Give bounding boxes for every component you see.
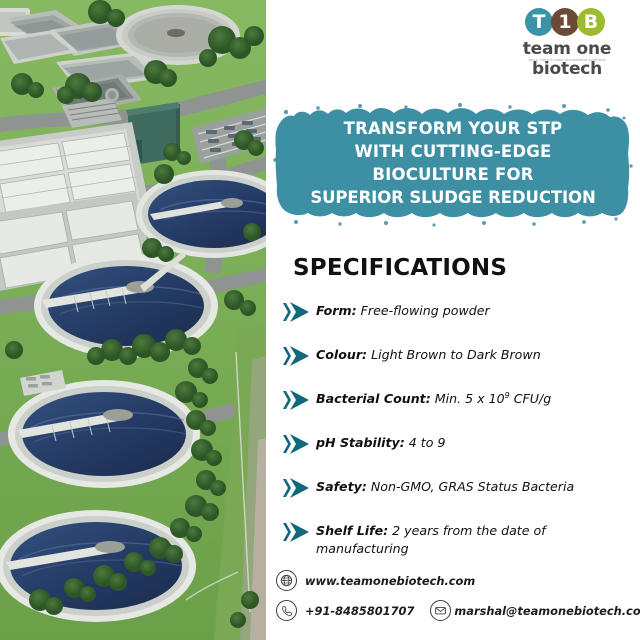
phone-icon: [276, 600, 297, 621]
banner-line-3: BIOCULTURE FOR: [372, 164, 533, 185]
spec-label-bacterial-count: Bacterial Count:: [316, 391, 431, 406]
chevron-arrow-icon: [282, 345, 312, 367]
spec-text-shelf-life: Shelf Life: 2 years from the date of man…: [312, 520, 634, 558]
spec-item-ph-stability: pH Stability: 4 to 9: [282, 432, 634, 456]
spec-item-bacterial-count: Bacterial Count: Min. 5 x 109 CFU/g: [282, 388, 634, 412]
specifications-heading: SPECIFICATIONS: [293, 255, 507, 281]
logo-letter-1: 1: [551, 8, 579, 36]
spec-value-colour: Light Brown to Dark Brown: [371, 347, 541, 362]
contact-row-phone-email: +91-8485801707 marshal@teamonebiotech.co…: [276, 600, 636, 621]
brand-logo: T 1 B team one biotech terra, flora & aq…: [497, 8, 637, 76]
spec-label-colour: Colour:: [316, 347, 367, 362]
poster-root: T 1 B team one biotech terra, flora & aq…: [0, 0, 640, 640]
logo-circles: T 1 B: [525, 8, 605, 36]
spec-value-safety: Non-GMO, GRAS Status Bacteria: [371, 479, 574, 494]
chevron-arrow-icon: [282, 433, 312, 455]
spec-value-bacterial-count: Min. 5 x 10: [435, 391, 505, 406]
spec-label-shelf-life: Shelf Life:: [316, 523, 388, 538]
spec-item-safety: Safety: Non-GMO, GRAS Status Bacteria: [282, 476, 634, 500]
contact-row-website: www.teamonebiotech.com: [276, 570, 636, 591]
spec-text-form: Form: Free-flowing powder: [312, 300, 634, 320]
spec-text-bacterial-count: Bacterial Count: Min. 5 x 109 CFU/g: [312, 388, 634, 408]
headline-banner: TRANSFORM YOUR STP WITH CUTTING-EDGE BIO…: [272, 100, 634, 230]
footer-contact: www.teamonebiotech.com +91-8485801707: [276, 570, 636, 621]
globe-icon: [276, 570, 297, 591]
contact-pair-email: marshal@teamonebiotech.com: [430, 600, 640, 621]
spec-item-shelf-life: Shelf Life: 2 years from the date of man…: [282, 520, 634, 558]
spec-value-bacterial-count-unit: CFU/g: [510, 391, 552, 406]
chevron-arrow-icon: [282, 521, 312, 543]
phone-text[interactable]: +91-8485801707: [305, 604, 414, 618]
spec-text-colour: Colour: Light Brown to Dark Brown: [312, 344, 634, 364]
spec-item-colour: Colour: Light Brown to Dark Brown: [282, 344, 634, 368]
banner-line-1: TRANSFORM YOUR STP: [344, 118, 563, 139]
logo-letter-t: T: [525, 8, 553, 36]
banner-line-2: WITH CUTTING-EDGE: [354, 141, 551, 162]
spec-item-form: Form: Free-flowing powder: [282, 300, 634, 324]
banner-line-4: SUPERIOR SLUDGE REDUCTION: [310, 187, 595, 208]
chevron-arrow-icon: [282, 301, 312, 323]
logo-tagline: terra, flora & aqua microbiome solutions: [497, 58, 637, 62]
banner-text-block: TRANSFORM YOUR STP WITH CUTTING-EDGE BIO…: [272, 100, 634, 230]
spec-label-form: Form:: [316, 303, 357, 318]
spec-text-ph-stability: pH Stability: 4 to 9: [312, 432, 634, 452]
chevron-arrow-icon: [282, 477, 312, 499]
photo-illustration: [0, 0, 266, 640]
treatment-plant-photo: [0, 0, 266, 640]
contact-pair-phone: +91-8485801707: [276, 600, 414, 621]
email-text[interactable]: marshal@teamonebiotech.com: [454, 604, 640, 618]
envelope-icon: [430, 600, 451, 621]
spec-value-form: Free-flowing powder: [361, 303, 490, 318]
spec-label-ph-stability: pH Stability:: [316, 435, 405, 450]
chevron-arrow-icon: [282, 389, 312, 411]
website-text[interactable]: www.teamonebiotech.com: [305, 574, 475, 588]
logo-letter-b: B: [577, 8, 605, 36]
spec-text-safety: Safety: Non-GMO, GRAS Status Bacteria: [312, 476, 634, 496]
specifications-list: Form: Free-flowing powder Colour: Light …: [282, 300, 634, 558]
spec-label-safety: Safety:: [316, 479, 367, 494]
spec-value-ph-stability: 4 to 9: [409, 435, 446, 450]
